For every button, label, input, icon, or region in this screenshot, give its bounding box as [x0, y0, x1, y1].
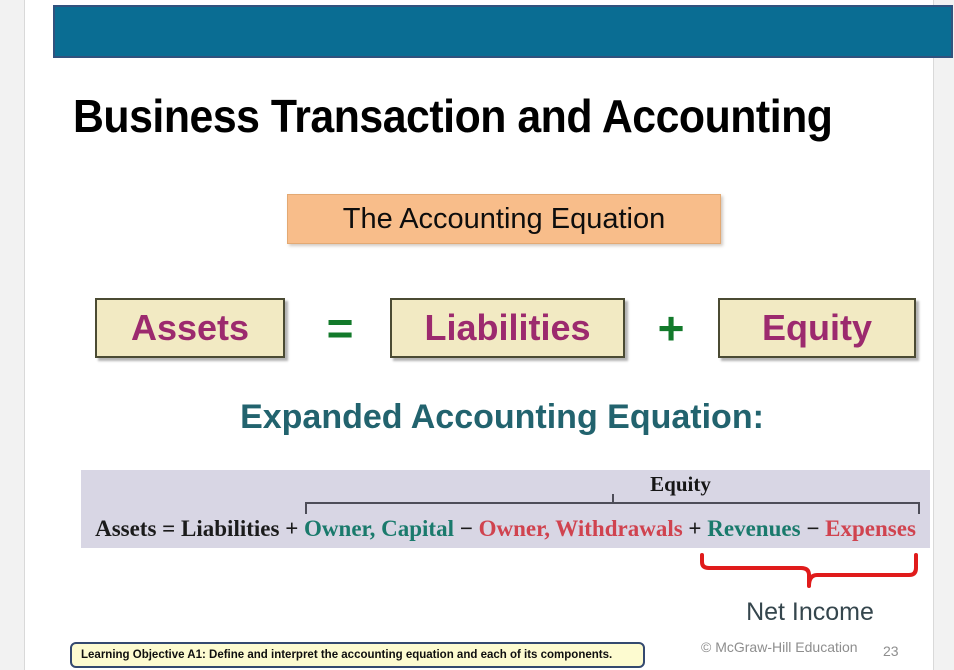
slide-root: Business Transaction and Accounting The … — [0, 0, 954, 670]
expanded-equation-token-3: + — [279, 516, 304, 541]
accounting-equation-heading-box: The Accounting Equation — [287, 194, 721, 244]
learning-objective-box: Learning Objective A1: Define and interp… — [70, 642, 645, 668]
page-number: 23 — [883, 643, 899, 659]
expanded-equation-token-6: Owner, Withdrawals — [479, 516, 683, 541]
expanded-equation-token-9: − — [801, 516, 826, 541]
expanded-equation-token-4: Owner, Capital — [304, 516, 454, 541]
expanded-equation-token-7: + — [683, 516, 708, 541]
expanded-equation-formula: Assets = Liabilities + Owner, Capital − … — [81, 515, 930, 543]
equation-term-assets: Assets — [95, 298, 285, 358]
equity-bracket — [305, 502, 920, 514]
equation-operator-equals: = — [305, 298, 375, 358]
expanded-equation-token-5: − — [454, 516, 479, 541]
accounting-equation-row: Assets = Liabilities + Equity — [95, 298, 920, 362]
expanded-equation-band: Equity Assets = Liabilities + Owner, Cap… — [81, 470, 930, 548]
net-income-label: Net Income — [697, 598, 923, 627]
expanded-equation-token-0: Assets — [95, 516, 156, 541]
slide-top-banner — [53, 5, 953, 58]
equity-bracket-caption: Equity — [81, 472, 930, 497]
net-income-brace — [697, 552, 922, 590]
page-title: Business Transaction and Accounting — [73, 88, 873, 144]
expanded-equation-heading: Expanded Accounting Equation: — [25, 398, 954, 437]
equation-term-assets-label: Assets — [131, 307, 249, 349]
equation-term-liabilities: Liabilities — [390, 298, 625, 358]
accounting-equation-heading-label: The Accounting Equation — [343, 203, 665, 236]
copyright-notice: © McGraw-Hill Education — [701, 639, 858, 655]
expanded-equation-token-8: Revenues — [707, 516, 800, 541]
equation-operator-plus: + — [640, 298, 702, 358]
slide-canvas: Business Transaction and Accounting The … — [24, 0, 934, 670]
equity-bracket-caption-text: Equity — [650, 472, 711, 496]
equation-term-equity: Equity — [718, 298, 916, 358]
expanded-equation-token-2: Liabilities — [181, 516, 279, 541]
equation-term-equity-label: Equity — [762, 307, 872, 349]
expanded-equation-token-10: Expenses — [825, 516, 916, 541]
equation-term-liabilities-label: Liabilities — [424, 307, 590, 349]
expanded-equation-token-1: = — [156, 516, 181, 541]
learning-objective-text: Learning Objective A1: Define and interp… — [81, 649, 612, 661]
